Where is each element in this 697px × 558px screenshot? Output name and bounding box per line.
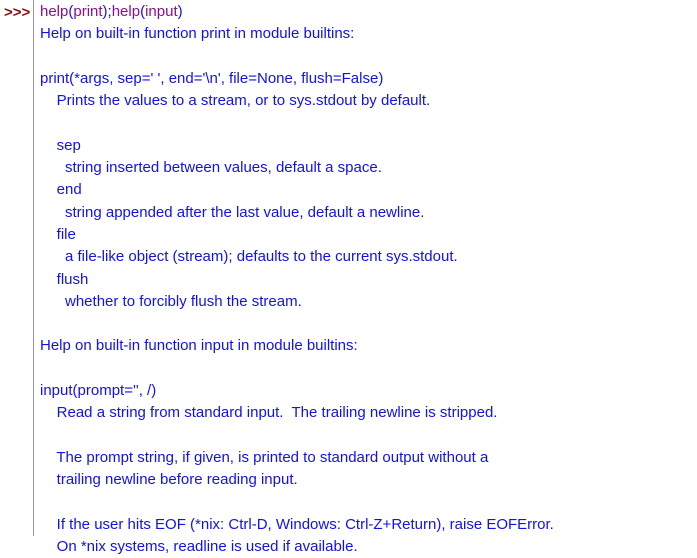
input-token-6: input bbox=[145, 3, 178, 20]
output-line: Help on built-in function print in modul… bbox=[40, 23, 695, 45]
output-line: input(prompt='', /) bbox=[40, 380, 695, 402]
output-line: a file-like object (stream); defaults to… bbox=[40, 246, 695, 268]
output-line bbox=[40, 112, 695, 134]
output-line: file bbox=[40, 224, 695, 246]
gutter-divider bbox=[33, 0, 34, 536]
input-token-2: print bbox=[73, 3, 102, 20]
input-token-7: ) bbox=[178, 3, 183, 20]
input-token-3: ); bbox=[103, 3, 112, 20]
output-line bbox=[40, 358, 695, 380]
output-line: whether to forcibly flush the stream. bbox=[40, 291, 695, 313]
prompt-symbol: >>> bbox=[4, 2, 30, 24]
output-line: trailing newline before reading input. bbox=[40, 469, 695, 491]
output-line bbox=[40, 313, 695, 335]
output-line: Prints the values to a stream, or to sys… bbox=[40, 90, 695, 112]
output-line: The prompt string, if given, is printed … bbox=[40, 447, 695, 469]
python-shell-console[interactable]: >>> help(print);help(input) Help on buil… bbox=[0, 0, 697, 536]
output-line bbox=[40, 425, 695, 447]
output-line: On *nix systems, readline is used if ava… bbox=[40, 536, 695, 558]
console-input-line[interactable]: help(print);help(input) bbox=[40, 1, 695, 23]
output-line: Help on built-in function input in modul… bbox=[40, 335, 695, 357]
output-line: flush bbox=[40, 269, 695, 291]
input-token-0: help bbox=[40, 3, 68, 20]
output-line: print(*args, sep=' ', end='\n', file=Non… bbox=[40, 68, 695, 90]
output-line: If the user hits EOF (*nix: Ctrl-D, Wind… bbox=[40, 514, 695, 536]
output-line bbox=[40, 46, 695, 68]
console-output-lines: Help on built-in function print in modul… bbox=[40, 23, 695, 558]
output-line: string inserted between values, default … bbox=[40, 157, 695, 179]
output-line: end bbox=[40, 179, 695, 201]
input-token-4: help bbox=[112, 3, 140, 20]
output-line: Read a string from standard input. The t… bbox=[40, 402, 695, 424]
output-line bbox=[40, 492, 695, 514]
console-output-area[interactable]: help(print);help(input) Help on built-in… bbox=[40, 1, 695, 558]
prompt-gutter: >>> bbox=[0, 0, 33, 536]
output-line: string appended after the last value, de… bbox=[40, 202, 695, 224]
output-line: sep bbox=[40, 135, 695, 157]
